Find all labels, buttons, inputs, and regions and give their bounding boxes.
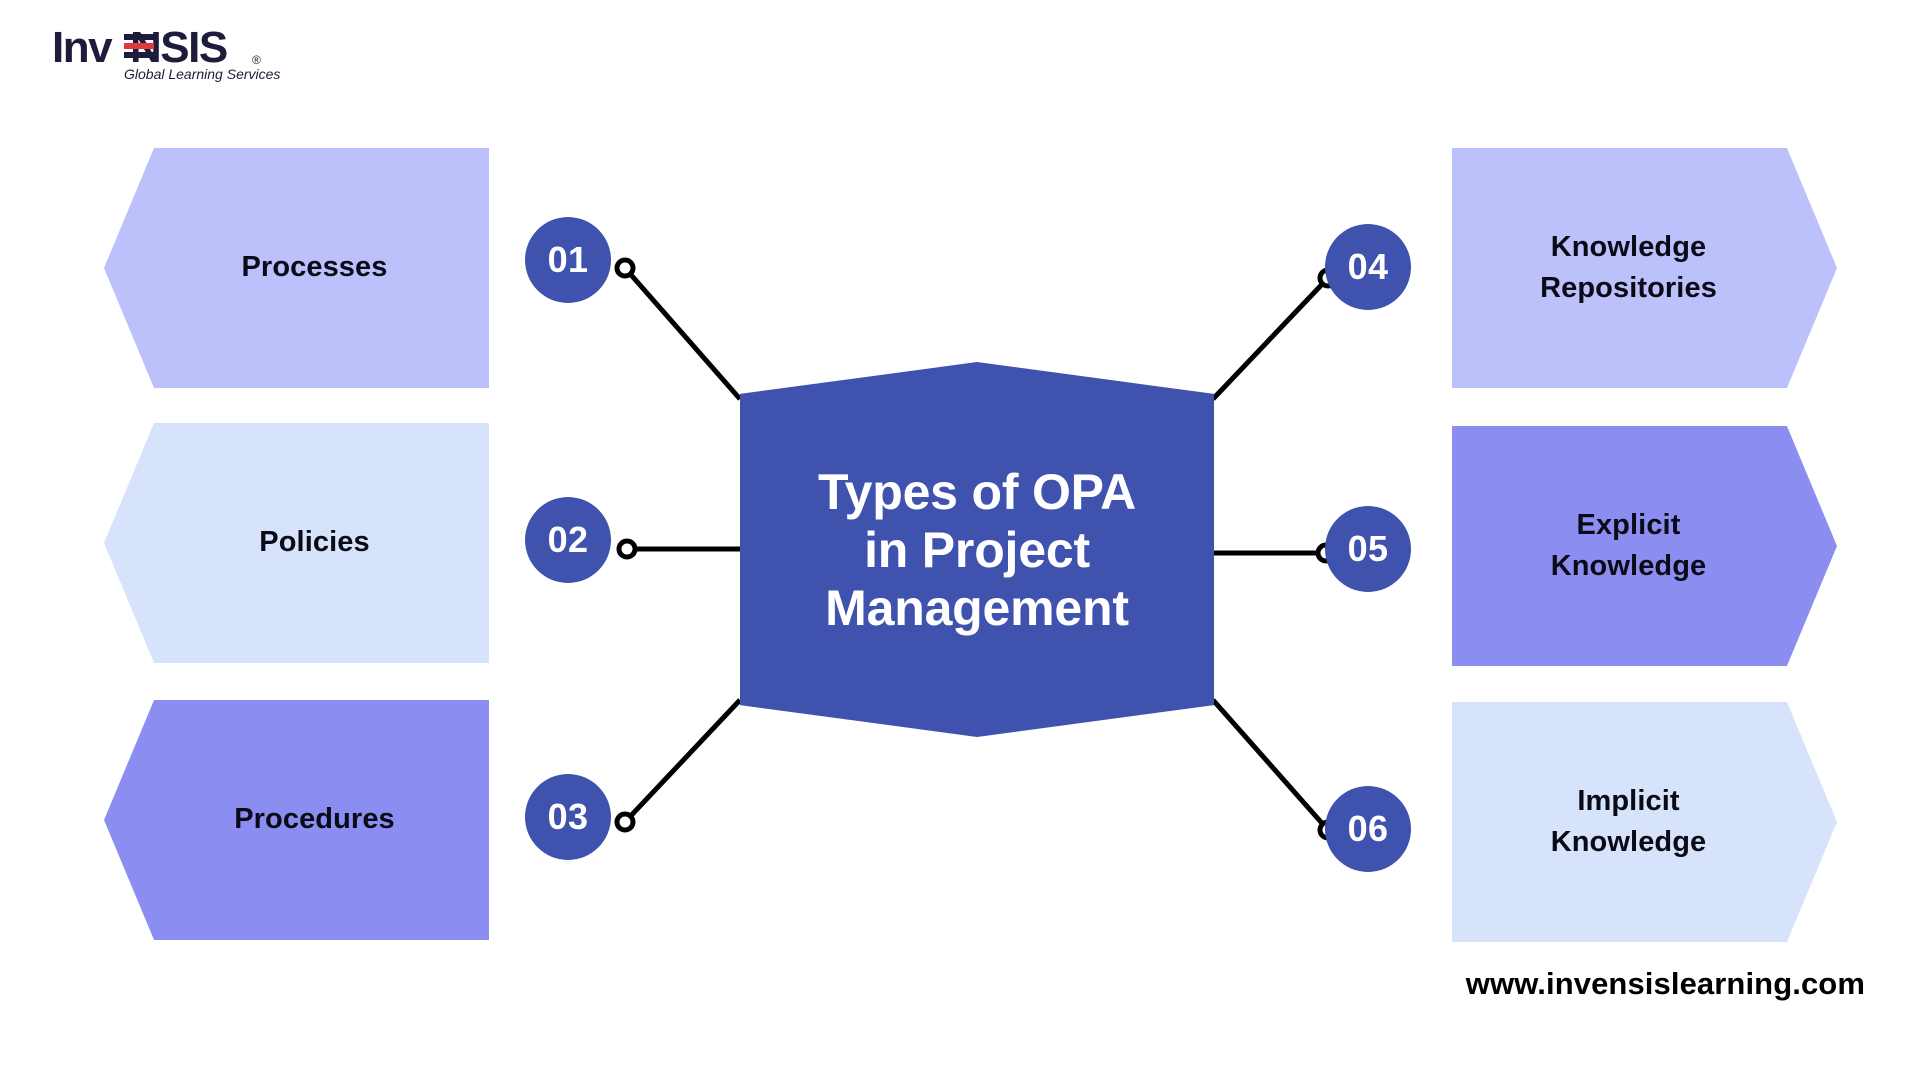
connector-line-01: [625, 268, 740, 399]
logo-e-bar-top: [124, 34, 154, 40]
step-circle-01[interactable]: 01: [525, 217, 611, 303]
invensis-logo: Inv NSIS ® Global Learning Services: [52, 22, 312, 84]
step-circle-04[interactable]: 04: [1325, 224, 1411, 310]
connector-dot-03: [617, 814, 633, 830]
step-circle-05[interactable]: 05: [1325, 506, 1411, 592]
center-node: Types of OPA in Project Management: [740, 362, 1214, 737]
item-band-policies[interactable]: Policies: [104, 423, 489, 663]
website-url[interactable]: www.invensislearning.com: [1466, 966, 1865, 1002]
connector-line-06: [1213, 700, 1328, 830]
step-circle-02[interactable]: 02: [525, 497, 611, 583]
item-band-implicit-knowledge[interactable]: Implicit Knowledge: [1452, 702, 1837, 942]
item-band-processes[interactable]: Processes: [104, 148, 489, 388]
band-label-04: Knowledge Repositories: [1540, 227, 1717, 309]
connector-line-04: [1213, 278, 1328, 399]
logo-tagline: Global Learning Services: [124, 66, 280, 82]
step-number-06: 06: [1348, 808, 1389, 850]
page-title: Types of OPA in Project Management: [818, 463, 1136, 637]
step-number-03: 03: [548, 796, 589, 838]
band-label-01: Processes: [241, 247, 387, 288]
step-circle-06[interactable]: 06: [1325, 786, 1411, 872]
logo-e-bar-red: [124, 43, 154, 49]
item-band-knowledge-repositories[interactable]: Knowledge Repositories: [1452, 148, 1837, 388]
item-band-procedures[interactable]: Procedures: [104, 700, 489, 940]
infographic-canvas: Inv NSIS ® Global Learning Services: [0, 0, 1920, 1080]
step-number-02: 02: [548, 519, 589, 561]
connector-dot-01: [617, 260, 633, 276]
logo-artwork: Inv NSIS ® Global Learning Services: [52, 22, 312, 84]
logo-registered-mark: ®: [252, 53, 261, 67]
connector-line-03: [625, 700, 740, 822]
logo-e-bar-bottom: [124, 52, 154, 58]
step-circle-03[interactable]: 03: [525, 774, 611, 860]
step-number-04: 04: [1348, 246, 1389, 288]
step-number-05: 05: [1348, 528, 1389, 570]
connector-dot-02: [619, 541, 635, 557]
band-label-06: Implicit Knowledge: [1551, 781, 1707, 863]
logo-wordmark-left: Inv: [52, 23, 113, 72]
band-label-02: Policies: [259, 522, 369, 563]
band-label-05: Explicit Knowledge: [1551, 505, 1707, 587]
band-label-03: Procedures: [234, 799, 395, 840]
step-number-01: 01: [548, 239, 589, 281]
item-band-explicit-knowledge[interactable]: Explicit Knowledge: [1452, 426, 1837, 666]
